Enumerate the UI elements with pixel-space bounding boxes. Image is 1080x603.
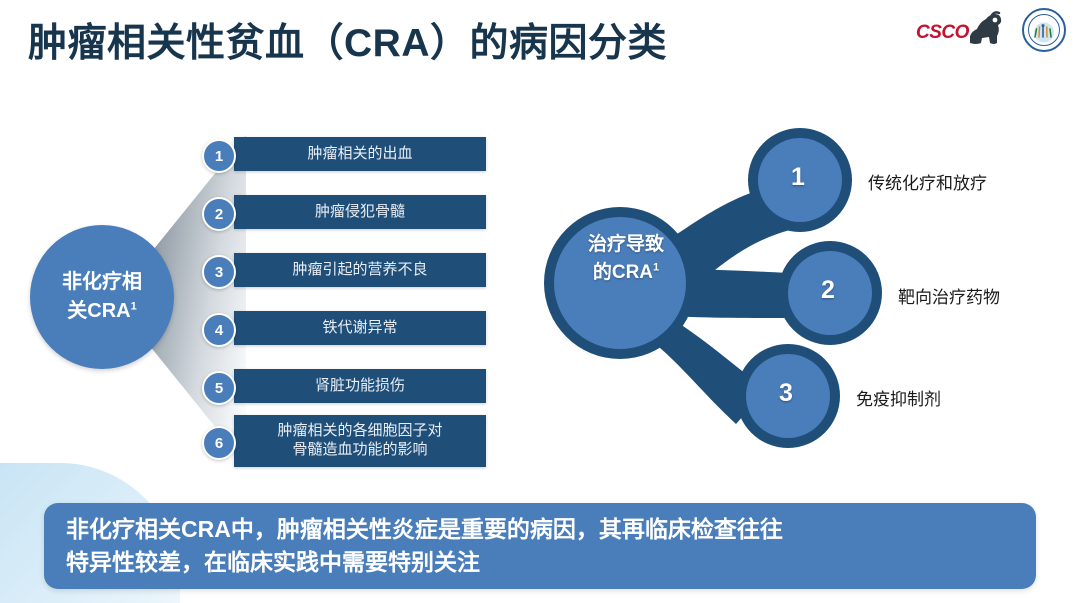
node-label-3: 免疫抑制剂: [856, 385, 941, 410]
hub-label-line1: 非化疗相: [62, 268, 142, 297]
summary-banner: 非化疗相关CRA中，肿瘤相关性炎症是重要的病因，其再临床检查往往 特异性较差，在…: [44, 503, 1036, 589]
row-label: 铁代谢异常: [234, 311, 486, 345]
node-label-2: 靶向治疗药物: [898, 283, 1000, 308]
node-number-3: 3: [779, 379, 793, 408]
logo-row: CSCO: [916, 8, 1066, 52]
row-label: 肿瘤相关的出血: [234, 137, 486, 171]
center-label-line2: 的CRA1: [558, 259, 694, 287]
society-round-emblem-icon: [1022, 8, 1066, 52]
non-chemo-cra-diagram: 非化疗相 关CRA1 1 肿瘤相关的出血 2 肿瘤侵犯骨髓 3 肿瘤引起的营养不…: [16, 125, 486, 475]
row-label: 肿瘤侵犯骨髓: [234, 195, 486, 229]
row-label-line2: 骨髓造血功能的影响: [292, 441, 427, 458]
row-badge: 1: [202, 139, 236, 173]
hub-circle-non-chemo-cra: 非化疗相 关CRA1: [30, 225, 174, 369]
row-label: 肿瘤引起的营养不良: [234, 253, 486, 287]
page-title: 肿瘤相关性贫血（CRA）的病因分类: [28, 12, 667, 68]
row-badge: 3: [202, 255, 236, 289]
summary-text: 非化疗相关CRA中，肿瘤相关性炎症是重要的病因，其再临床检查往往 特异性较差，在…: [44, 513, 805, 578]
cause-row-list: 1 肿瘤相关的出血 2 肿瘤侵犯骨髓 3 肿瘤引起的营养不良 4 铁代谢异常 5…: [202, 125, 486, 475]
summary-line1: 非化疗相关CRA中，肿瘤相关性炎症是重要的病因，其再临床检查往往: [66, 516, 783, 542]
row-label: 肾脏功能损伤: [234, 369, 486, 403]
slide-canvas: 肿瘤相关性贫血（CRA）的病因分类 CSCO 非化疗相: [0, 0, 1080, 603]
node-label-1: 传统化疗和放疗: [868, 169, 987, 194]
treatment-induced-cra-diagram: 治疗导致 的CRA1 1 2 3 传统化疗和放疗 靶向治疗药物 免疫抑制剂: [540, 118, 1060, 468]
summary-line2: 特异性较差，在临床实践中需要特别关注: [66, 549, 480, 575]
row-badge: 2: [202, 197, 236, 231]
center-label-line1: 治疗导致: [558, 231, 694, 259]
csco-wordmark: CSCO: [916, 22, 969, 44]
node-number-1: 1: [791, 163, 805, 192]
row-badge: 5: [202, 371, 236, 405]
csco-logo: CSCO: [916, 9, 1008, 51]
center-label-treatment-induced-cra: 治疗导致 的CRA1: [558, 231, 694, 286]
row-label: 肿瘤相关的各细胞因子对 骨髓造血功能的影响: [234, 415, 486, 467]
row-label-line1: 肿瘤相关的各细胞因子对: [277, 422, 442, 439]
node-number-2: 2: [821, 276, 835, 305]
hub-label-line2: 关CRA1: [67, 297, 136, 326]
row-badge: 4: [202, 313, 236, 347]
row-badge: 6: [202, 426, 236, 460]
csco-ox-mark-icon: [964, 9, 1006, 49]
